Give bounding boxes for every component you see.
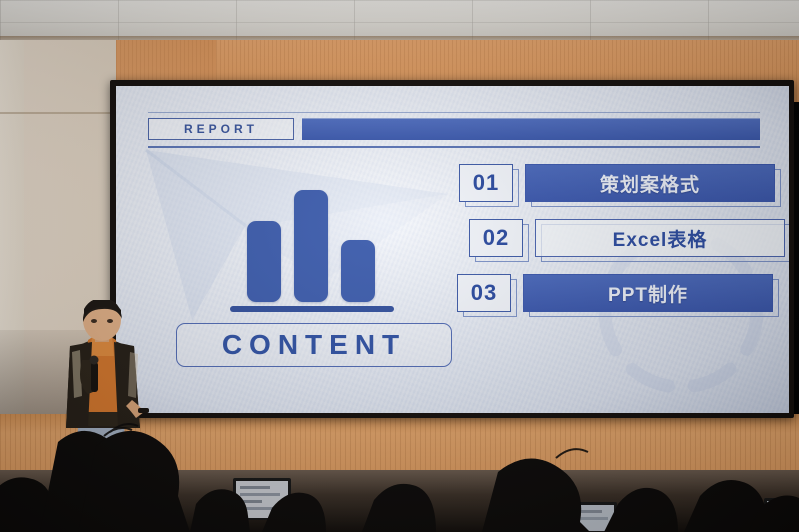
header-top-rule <box>148 112 760 113</box>
agenda-label-text: PPT制作 <box>608 280 688 307</box>
agenda-number-label: 02 <box>483 225 509 251</box>
report-tag-label: REPORT <box>184 122 258 136</box>
audience-heads <box>0 431 799 532</box>
agenda-label-box: Excel表格 <box>535 219 785 257</box>
agenda-number-box: 01 <box>459 164 513 202</box>
header-bottom-rule <box>148 146 760 148</box>
agenda-label-box: 策划案格式 <box>525 164 775 202</box>
wall-seam <box>0 112 116 114</box>
chart-bar-3 <box>341 240 375 302</box>
content-caption-label: CONTENT <box>222 329 406 361</box>
agenda-label-box: PPT制作 <box>523 274 773 312</box>
agenda-row-02: 02 Excel表格 <box>469 219 789 259</box>
agenda-label-text: 策划案格式 <box>600 170 700 197</box>
slide-header: REPORT <box>148 116 760 144</box>
content-caption-box: CONTENT <box>176 323 452 367</box>
agenda-number-box: 02 <box>469 219 523 257</box>
chart-bar-1 <box>247 221 281 302</box>
agenda-row-03: 03 PPT制作 <box>457 274 777 314</box>
bar-chart-graphic <box>222 182 402 312</box>
audience-silhouettes <box>0 412 799 532</box>
chart-baseline <box>230 306 394 312</box>
lecture-hall-photo: REPORT CONTENT 01 策划案格式 <box>0 0 799 532</box>
agenda-number-label: 01 <box>473 170 499 196</box>
agenda-number-label: 03 <box>471 280 497 306</box>
presentation-slide: REPORT CONTENT 01 策划案格式 <box>116 86 789 413</box>
chart-bar-2 <box>294 190 328 302</box>
header-blue-bar <box>302 118 760 140</box>
agenda-number-box: 03 <box>457 274 511 312</box>
report-tag: REPORT <box>148 118 294 140</box>
agenda-row-01: 01 策划案格式 <box>459 164 779 204</box>
agenda-list: 01 策划案格式 02 Excel表格 03 <box>459 164 779 320</box>
agenda-label-text: Excel表格 <box>613 225 708 252</box>
